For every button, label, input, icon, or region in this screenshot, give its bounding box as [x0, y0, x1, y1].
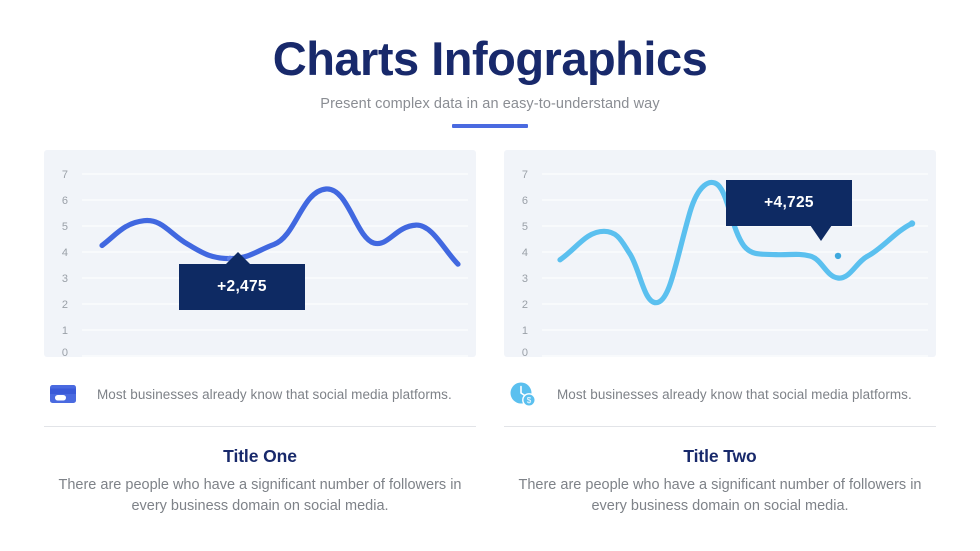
svg-text:6: 6: [62, 195, 68, 207]
svg-text:5: 5: [522, 221, 528, 233]
tooltip-one-label: +2,475: [217, 278, 267, 295]
svg-text:5: 5: [62, 221, 68, 233]
columns-container: 7 6 5 4 3 2 1 0 +2,475: [0, 150, 980, 517]
column-two: 7 6 5 4 3 2 1 0 +4,72: [504, 150, 936, 517]
column-one-body: There are people who have a significant …: [44, 475, 476, 517]
svg-text:4: 4: [62, 247, 68, 259]
svg-text:3: 3: [522, 273, 528, 285]
svg-text:2: 2: [522, 299, 528, 311]
svg-text:7: 7: [62, 169, 68, 181]
tooltip-one[interactable]: +2,475: [179, 264, 305, 310]
tooltip-two-label: +4,725: [764, 194, 814, 211]
column-one: 7 6 5 4 3 2 1 0 +2,475: [44, 150, 476, 517]
svg-text:0: 0: [522, 347, 528, 357]
accent-bar: [452, 124, 528, 128]
caption-text-two: Most businesses already know that social…: [557, 387, 912, 402]
column-two-title: Title Two: [504, 446, 936, 467]
svg-text:6: 6: [522, 195, 528, 207]
tooltip-two[interactable]: +4,725: [726, 180, 852, 226]
column-one-title: Title One: [44, 446, 476, 467]
caption-row-one: Most businesses already know that social…: [44, 379, 476, 409]
data-point-end-two: [909, 220, 915, 226]
caption-row-two: $ Most businesses already know that soci…: [504, 379, 936, 409]
page-subtitle: Present complex data in an easy-to-under…: [0, 96, 980, 112]
svg-text:0: 0: [62, 347, 68, 357]
svg-text:7: 7: [522, 169, 528, 181]
svg-text:1: 1: [62, 325, 68, 337]
chart-panel-one: 7 6 5 4 3 2 1 0 +2,475: [44, 150, 476, 357]
svg-text:2: 2: [62, 299, 68, 311]
header: Charts Infographics Present complex data…: [0, 34, 980, 128]
svg-text:3: 3: [62, 273, 68, 285]
divider-one: [44, 426, 476, 427]
chart-panel-two: 7 6 5 4 3 2 1 0 +4,72: [504, 150, 936, 357]
column-two-body: There are people who have a significant …: [504, 475, 936, 517]
line-chart-one: 7 6 5 4 3 2 1 0: [44, 150, 476, 357]
tooltip-arrow-up-icon: [226, 252, 250, 264]
clock-money-icon: $: [508, 379, 538, 409]
divider-two: [504, 426, 936, 427]
y-axis-labels-two: 7 6 5 4 3 2 1 0: [522, 169, 528, 357]
svg-text:1: 1: [522, 325, 528, 337]
caption-text-one: Most businesses already know that social…: [97, 387, 452, 402]
line-chart-two: 7 6 5 4 3 2 1 0: [504, 150, 936, 357]
data-point-two: [835, 253, 841, 259]
credit-card-icon: [48, 379, 78, 409]
svg-text:$: $: [527, 396, 532, 405]
slide: Charts Infographics Present complex data…: [0, 0, 980, 551]
tooltip-arrow-down-icon: [810, 225, 832, 241]
y-axis-labels-one: 7 6 5 4 3 2 1 0: [62, 169, 68, 357]
svg-text:4: 4: [522, 247, 528, 259]
page-title: Charts Infographics: [0, 34, 980, 85]
